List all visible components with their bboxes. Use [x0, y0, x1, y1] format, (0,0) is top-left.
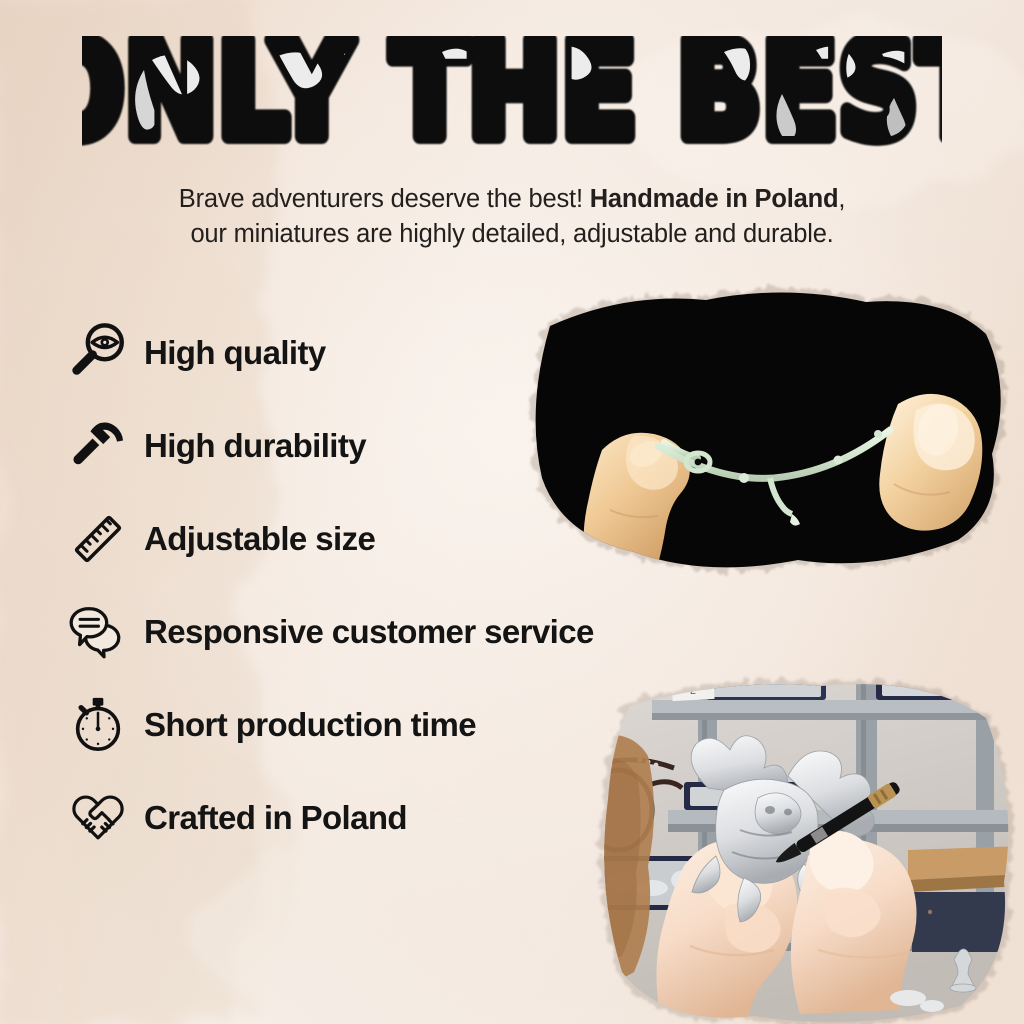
feature-item-crafted-in-poland: Crafted in Poland — [62, 771, 762, 864]
feature-label: High quality — [144, 334, 326, 372]
stopwatch-icon — [62, 689, 134, 761]
subtitle-pre: Brave adventurers deserve the best! — [179, 185, 590, 213]
feature-list: High quality High durability — [62, 306, 762, 864]
feature-label: High durability — [144, 427, 366, 465]
magnifier-eye-icon — [62, 317, 134, 389]
feature-item-high-durability: High durability — [62, 399, 762, 492]
feature-label: Short production time — [144, 706, 476, 744]
feature-item-high-quality: High quality — [62, 306, 762, 399]
speech-bubbles-icon — [62, 596, 134, 668]
subtitle: Brave adventurers deserve the best! Hand… — [60, 182, 964, 252]
headline-banner: ONLY THE BEST ONLY THE BEST — [0, 36, 1024, 164]
feature-label: Adjustable size — [144, 520, 375, 558]
subtitle-line-1: Brave adventurers deserve the best! Hand… — [179, 185, 845, 213]
page-title-text: ONLY THE BEST — [82, 36, 942, 164]
page-title: ONLY THE BEST ONLY THE BEST — [82, 36, 942, 164]
subtitle-line-2: our miniatures are highly detailed, adju… — [190, 220, 833, 248]
feature-item-adjustable-size: Adjustable size — [62, 492, 762, 585]
subtitle-emphasis: Handmade in Poland — [590, 185, 839, 213]
hammer-icon — [62, 410, 134, 482]
feature-item-customer-service: Responsive customer service — [62, 585, 762, 678]
feature-label: Responsive customer service — [144, 613, 594, 651]
subtitle-post: , — [838, 185, 845, 213]
ruler-icon — [62, 503, 134, 575]
feature-item-production-time: Short production time — [62, 678, 762, 771]
feature-label: Crafted in Poland — [144, 799, 407, 837]
heart-handshake-icon — [62, 782, 134, 854]
